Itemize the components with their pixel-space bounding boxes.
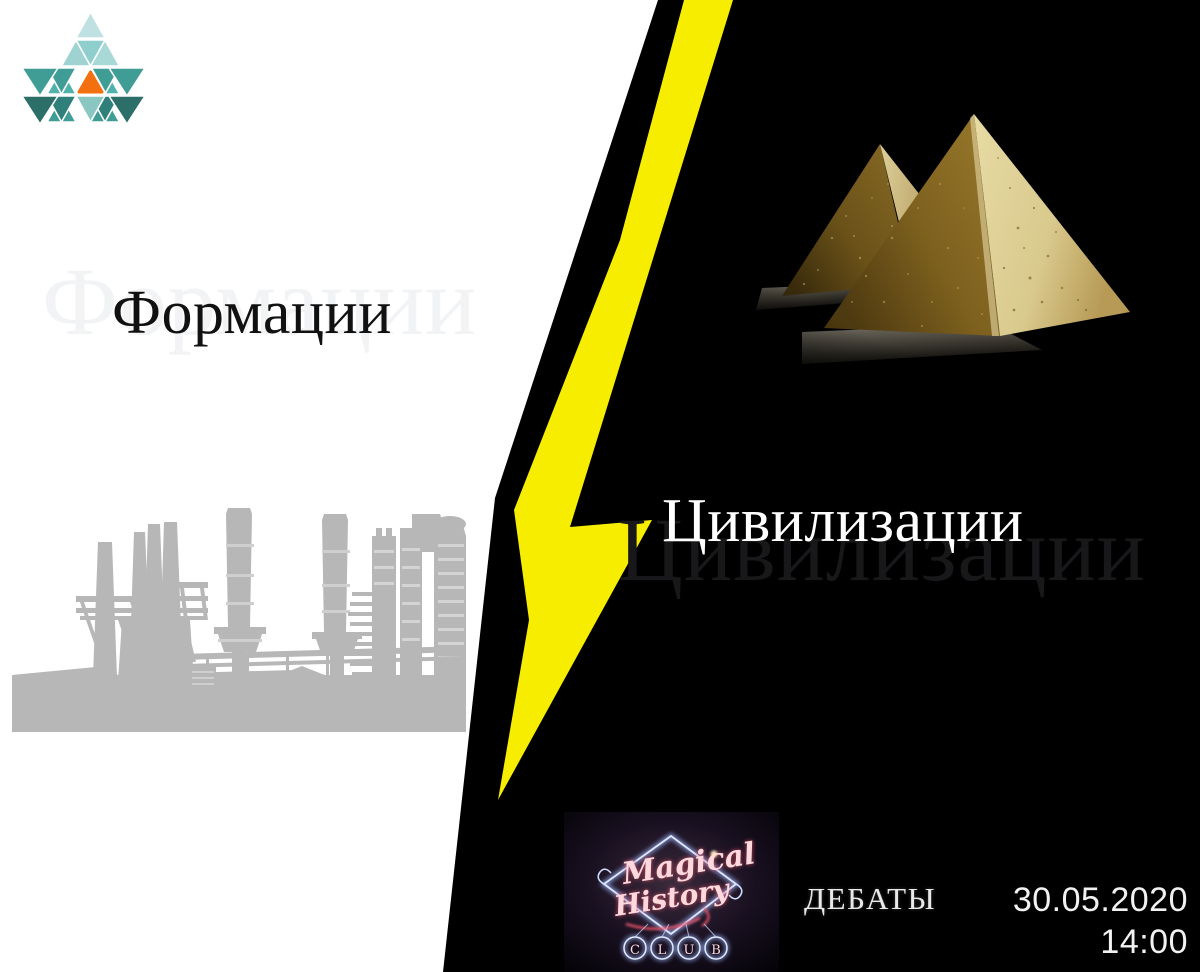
event-date: 30.05.2020 (1013, 880, 1188, 920)
svg-text:U: U (684, 943, 695, 958)
debate-poster: Формации Формации Цивилизации Цивилизаци… (0, 0, 1200, 972)
factory-silhouette (0, 492, 494, 732)
event-time: 14:00 (1100, 922, 1188, 962)
event-type-label: ДЕБАТЫ (804, 883, 936, 914)
page-title-civilizations: Цивилизации (662, 490, 1024, 552)
svg-text:C: C (630, 943, 640, 958)
pyramids-illustration (742, 88, 1200, 392)
svg-text:L: L (658, 943, 667, 958)
formations-headline-block: Формации Формации (0, 262, 560, 362)
svg-text:B: B (711, 943, 721, 958)
triangles-mosaic-logo (8, 6, 173, 141)
civilizations-headline-block: Цивилизации Цивилизации (600, 468, 1200, 588)
page-title-formations: Формации (112, 282, 392, 344)
magical-history-club-neon-sign: Magical History Magical History (564, 812, 779, 972)
event-meta: ДЕБАТЫ 30.05.2020 14:00 (790, 880, 1190, 962)
